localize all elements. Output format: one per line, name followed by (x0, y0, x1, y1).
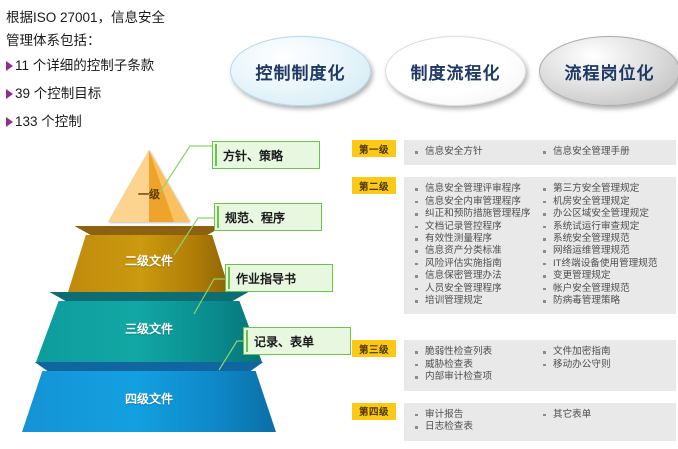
list-item: 培训管理规定 (412, 295, 534, 307)
intro-line-1: 根据ISO 27001，信息安全 (6, 6, 224, 29)
level-4-left-column: 审计报告 日志检查表 (412, 409, 540, 434)
list-item: 变更管理规定 (540, 270, 662, 282)
list-item: 防病毒管理策略 (540, 295, 662, 307)
list-item: 系统试运行审查规定 (540, 221, 662, 233)
level-4-right-column: 其它表单 (540, 409, 668, 434)
level-panel-4: 审计报告 日志检查表 其它表单 (404, 403, 676, 441)
level-badge-4: 第四级 (352, 403, 396, 420)
list-item: 帐户安全管理规范 (540, 283, 662, 295)
level-panel-1: 信息安全方针 信息安全管理手册 (404, 140, 676, 165)
level-row-3: 第三级 脆弱性检查列表 威胁检查表 内部审计检查项 文件加密指南 移动办公守则 (352, 340, 676, 390)
list-item: 人员安全管理程序 (412, 283, 534, 295)
pyramid-level-4-label: 四级文件 (22, 390, 276, 407)
level-1-right-column: 信息安全管理手册 (540, 146, 668, 158)
list-item: 文档记录管控程序 (412, 221, 534, 233)
level-3-right-column: 文件加密指南 移动办公守则 (540, 346, 668, 383)
level-2-left-column: 信息安全管理评审程序 信息安全内审管理程序 纠正和预防措施管理程序 文档记录管控… (412, 183, 540, 307)
level-badge-3: 第三级 (352, 340, 396, 357)
level-1-left-column: 信息安全方针 (412, 146, 540, 158)
list-item: 信息安全管理手册 (540, 146, 662, 158)
list-item: 信息安全内审管理程序 (412, 196, 534, 208)
list-item: 纠正和预防措施管理程序 (412, 208, 534, 220)
list-item: IT终端设备使用管理规范 (540, 258, 662, 270)
list-item: 威胁检查表 (412, 359, 534, 371)
callout-policy-strategy: 方针、策略 (212, 141, 320, 169)
list-item: 内部审计检查项 (412, 371, 534, 383)
intro-bullet-2: 39 个控制目标 (6, 80, 224, 108)
level-2-right-column: 第三方安全管理规定 机房安全管理规定 办公区域安全管理规定 系统试运行审查规定 … (540, 183, 668, 307)
ellipse-control-institutionalization: 控制制度化 (230, 36, 371, 106)
triangle-bullet-icon (6, 117, 13, 127)
list-item: 第三方安全管理规定 (540, 183, 662, 195)
list-item: 移动办公守则 (540, 359, 662, 371)
list-item: 脆弱性检查列表 (412, 346, 534, 358)
intro-bullet-3-label: 133 个控制 (15, 108, 82, 136)
level-row-1: 第一级 信息安全方针 信息安全管理手册 (352, 140, 676, 165)
level-badge-2: 第二级 (352, 177, 396, 194)
intro-bullet-1-label: 11 个详细的控制子条款 (15, 52, 154, 80)
list-item: 文件加密指南 (540, 346, 662, 358)
ellipse-institution-processization: 制度流程化 (385, 36, 526, 106)
intro-text-block: 根据ISO 27001，信息安全 管理体系包括： 11 个详细的控制子条款 39… (6, 6, 224, 136)
level-panel-2: 信息安全管理评审程序 信息安全内审管理程序 纠正和预防措施管理程序 文档记录管控… (404, 177, 676, 314)
list-item: 信息安全方针 (412, 146, 534, 158)
intro-bullet-3: 133 个控制 (6, 108, 224, 136)
callout-spec-procedure: 规范、程序 (214, 203, 322, 231)
level-panel-3: 脆弱性检查列表 威胁检查表 内部审计检查项 文件加密指南 移动办公守则 (404, 340, 676, 390)
callout-record-form: 记录、表单 (243, 327, 351, 355)
list-item: 风险评估实施指南 (412, 258, 534, 270)
document-level-list: 第一级 信息安全方针 信息安全管理手册 第二级 信息安全管理评审程序 信息安全内… (352, 140, 676, 449)
list-item: 信息安全管理评审程序 (412, 183, 534, 195)
list-item: 机房安全管理规定 (540, 196, 662, 208)
triangle-bullet-icon (6, 89, 13, 99)
intro-line-2: 管理体系包括： (6, 29, 224, 52)
level-row-2: 第二级 信息安全管理评审程序 信息安全内审管理程序 纠正和预防措施管理程序 文档… (352, 177, 676, 314)
callout-work-instruction: 作业指导书 (225, 264, 333, 292)
level-3-left-column: 脆弱性检查列表 威胁检查表 内部审计检查项 (412, 346, 540, 383)
ellipse-process-positionization: 流程岗位化 (539, 36, 678, 106)
list-item: 有效性测量程序 (412, 233, 534, 245)
list-item: 其它表单 (540, 409, 662, 421)
list-item: 信息资产分类标准 (412, 245, 534, 257)
level-badge-1: 第一级 (352, 140, 396, 157)
leader-line-1 (150, 140, 220, 195)
list-item: 信息保密管理办法 (412, 270, 534, 282)
list-item: 办公区域安全管理规定 (540, 208, 662, 220)
intro-bullet-2-label: 39 个控制目标 (15, 80, 101, 108)
list-item: 审计报告 (412, 409, 534, 421)
list-item: 日志检查表 (412, 421, 534, 433)
list-item: 系统安全管理规范 (540, 233, 662, 245)
intro-bullet-1: 11 个详细的控制子条款 (6, 52, 224, 80)
list-item: 网络运维管理规范 (540, 245, 662, 257)
level-row-4: 第四级 审计报告 日志检查表 其它表单 (352, 403, 676, 441)
triangle-bullet-icon (6, 61, 13, 71)
